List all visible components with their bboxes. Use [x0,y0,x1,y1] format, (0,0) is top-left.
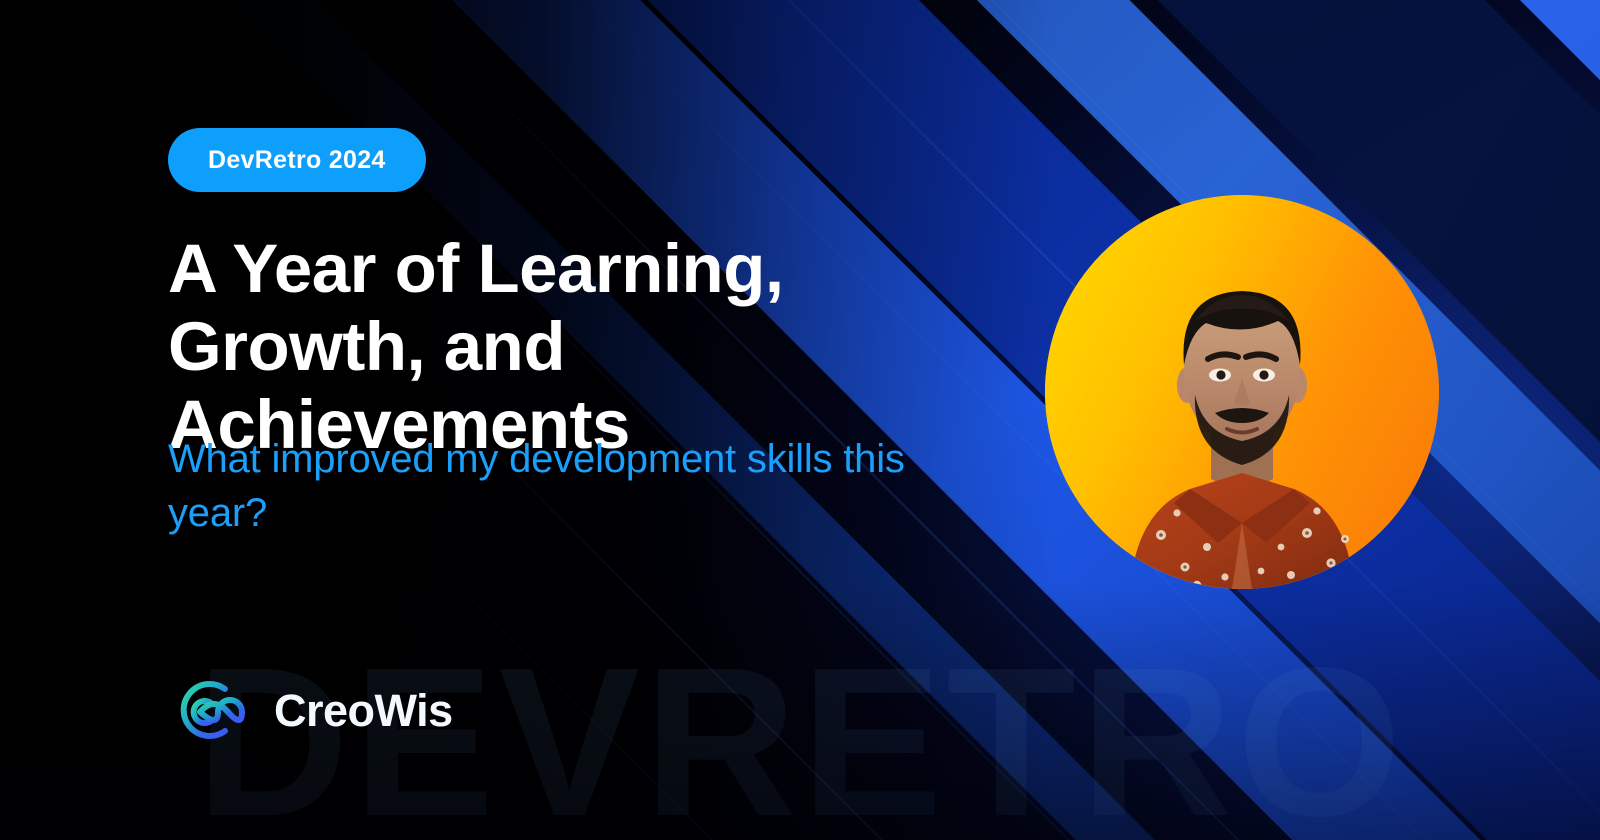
avatar-portrait-illustration [1045,195,1439,589]
creowis-wordmark: CreoWis [274,688,453,733]
page-title: A Year of Learning, Growth, and Achievem… [168,230,1008,464]
creowis-logo[interactable]: CreoWis [168,672,453,748]
page-subtitle: What improved my development skills this… [168,432,928,540]
content-column: DevRetro 2024 A Year of Learning, Growth… [168,0,1028,840]
devretro-badge[interactable]: DevRetro 2024 [168,128,426,192]
devretro-banner: DEVRETRO [0,0,1600,840]
creowis-infinity-icon [168,672,260,748]
avatar [1045,195,1439,589]
